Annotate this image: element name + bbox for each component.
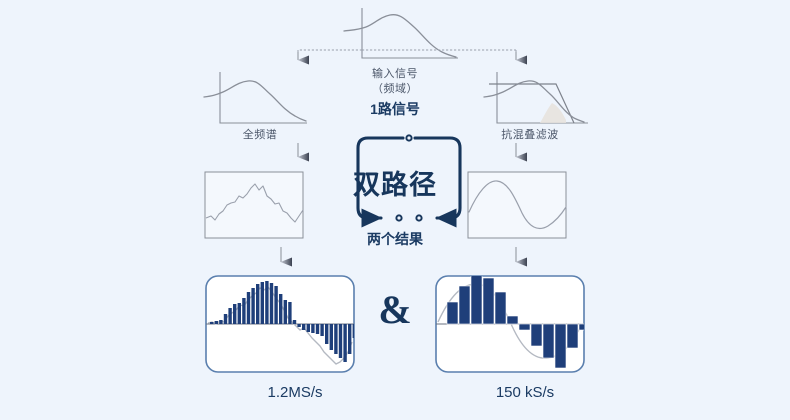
label-two-results: 两个结果 [335,229,455,249]
high-rate-result-box [206,276,356,372]
full-spectrum-plot [204,72,307,123]
label-anti-alias-filter: 抗混叠滤波 [475,126,585,142]
noisy-waveform-box [205,172,303,238]
bracket-top-dot [406,135,411,140]
filter-shaded-region [540,103,566,123]
low-rate-result-box [436,274,590,372]
diagram-canvas: 全频谱 抗混叠滤波 输入信号 （频域） 1路信号 双路径 两个结果 & 1.2M… [0,0,790,420]
sine-waveform-box [468,172,566,238]
arrows-to-result-boxes [281,247,516,262]
label-one-signal: 1路信号 [335,99,455,119]
anti-alias-filter-plot [484,72,588,123]
arrows-to-waveform-boxes [298,143,516,157]
label-input-signal: 输入信号 [335,65,455,81]
label-dual-path: 双路径 [340,163,450,202]
label-low-sample-rate: 150 kS/s [455,384,595,401]
diagram-graphics [0,0,790,420]
label-high-sample-rate: 1.2MS/s [225,384,365,401]
label-full-spectrum: 全频谱 [205,126,315,142]
label-input-signal-domain: （频域） [335,80,455,96]
ampersand-symbol: & [373,288,417,332]
bracket-dot-left [396,215,401,220]
bracket-dot-right [416,215,421,220]
